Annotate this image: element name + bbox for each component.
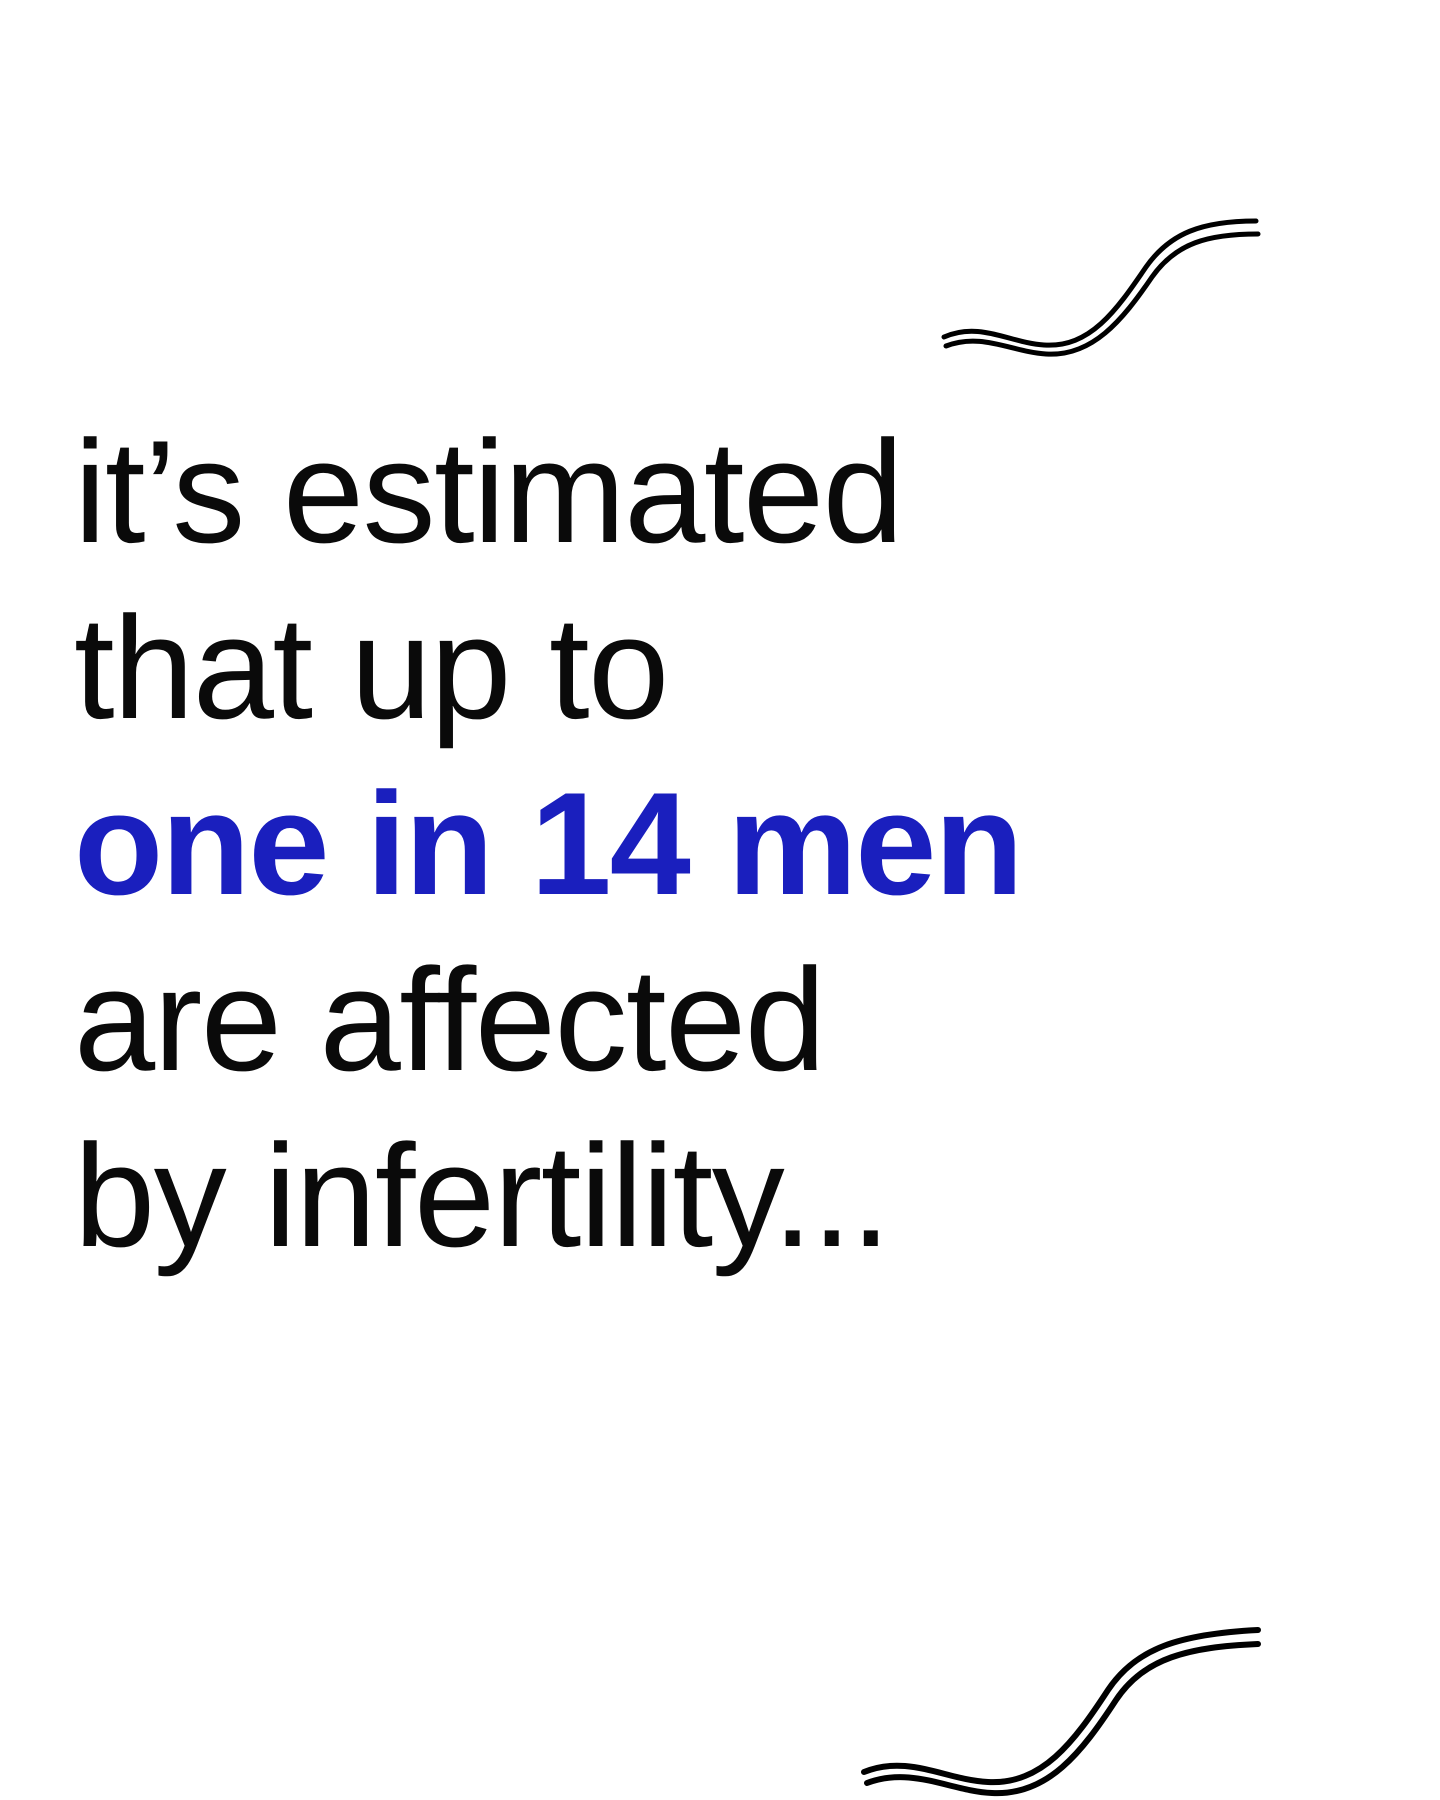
- headline-line-2: that up to: [74, 580, 1134, 756]
- headline-text-block: it’s estimated that up to one in 14 men …: [74, 404, 1134, 1284]
- poster-canvas: it’s estimated that up to one in 14 men …: [0, 0, 1440, 1800]
- squiggle-flourish-top-right-icon: [940, 215, 1260, 375]
- headline-line-4: are affected: [74, 932, 1134, 1108]
- headline-line-1: it’s estimated: [74, 404, 1134, 580]
- headline-line-5: by infertility...: [74, 1108, 1134, 1284]
- headline-line-3-emphasis: one in 14 men: [74, 756, 1134, 932]
- squiggle-flourish-bottom-right-icon: [860, 1620, 1260, 1800]
